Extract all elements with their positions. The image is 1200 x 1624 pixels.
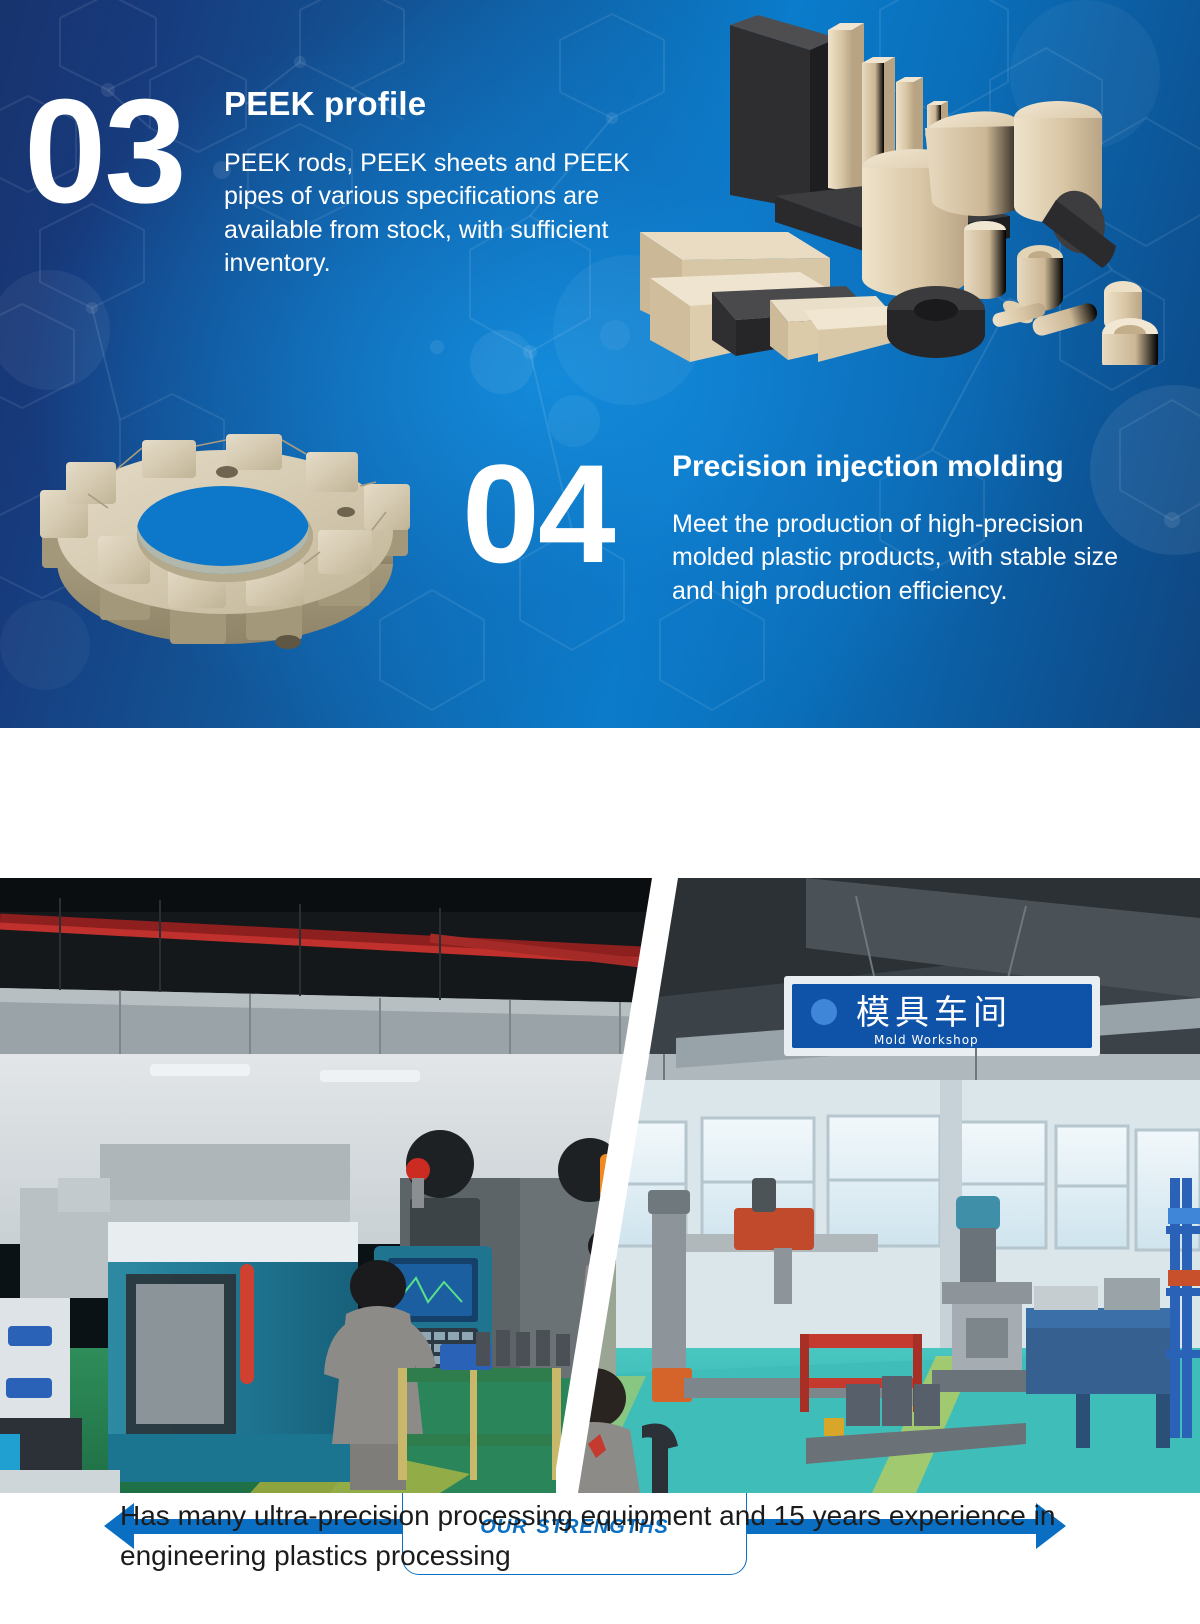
feature-title-03: PEEK profile: [224, 85, 426, 123]
feature-title-04: Precision injection molding: [672, 450, 1064, 484]
feature-number-03: 03: [24, 78, 185, 226]
strengths-banner: Our strengths: [0, 728, 1200, 878]
hero-panel: 03 PEEK profile PEEK rods, PEEK sheets a…: [0, 0, 1200, 728]
factory-photo-strip: 模具车间 Mold Workshop: [0, 878, 1200, 1493]
feature-block-03: 03 PEEK profile PEEK rods, PEEK sheets a…: [0, 0, 680, 360]
bottom-caption: Has many ultra-precision processing equi…: [0, 1496, 1200, 1576]
feature-body-04: Meet the production of high-precision mo…: [672, 508, 1142, 608]
photo-mold-workshop: 模具车间 Mold Workshop: [556, 878, 1200, 1493]
feature-body-03: PEEK rods, PEEK sheets and PEEK pipes of…: [224, 147, 654, 280]
peek-gear-ring-image: [20, 390, 440, 680]
feature-number-04: 04: [462, 444, 614, 584]
sign-chinese-text: 模具车间: [856, 993, 1012, 1033]
sign-english-text: Mold Workshop: [874, 1033, 979, 1047]
peek-profile-product-image: [640, 10, 1200, 365]
